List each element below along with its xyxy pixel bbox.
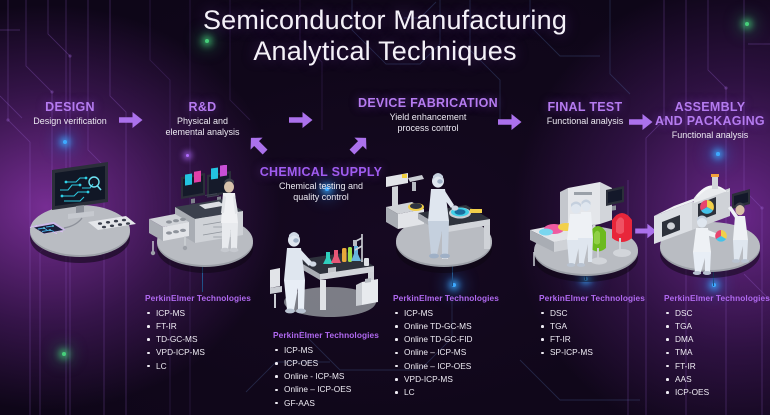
glow-dot-blue-design: [63, 140, 67, 144]
tech-item: DSC: [664, 307, 770, 320]
stage-header-design: DESIGN Design verification: [10, 100, 130, 127]
tech-item: TGA: [539, 320, 645, 333]
scene-finaltest: [524, 180, 648, 284]
infographic-canvas: Semiconductor Manufacturing Analytical T…: [0, 0, 770, 415]
tech-item: ICP-MS: [273, 344, 379, 357]
scene-chemical: [268, 218, 388, 318]
page-title-line1: Semiconductor Manufacturing: [203, 5, 567, 35]
stage-title-design: DESIGN: [10, 100, 130, 114]
tech-item: LC: [393, 386, 499, 399]
tech-item: LC: [145, 360, 251, 373]
scene-assembly: [652, 172, 770, 282]
tech-items-fabrication: ICP-MS Online TD-GC-MS Online TD-GC-FID …: [393, 307, 499, 400]
tech-item: VPD-ICP-MS: [393, 373, 499, 386]
stage-subtitle-fabrication-line2: process control: [348, 123, 508, 134]
tech-items-rnd: ICP-MS FT-IR TD-GC-MS VPD-ICP-MS LC: [145, 307, 251, 373]
stage-subtitle-finaltest: Functional analysis: [525, 116, 645, 127]
tech-list-heading-fabrication: PerkinElmer Technologies: [393, 293, 499, 303]
tech-item: ICP-OES: [664, 386, 770, 399]
tech-list-fabrication: PerkinElmer Technologies ICP-MS Online T…: [393, 293, 499, 400]
tech-item: TMA: [664, 346, 770, 359]
tech-items-assembly: DSC TGA DMA TMA FT-IR AAS ICP-OES: [664, 307, 770, 400]
glow-dot-blue-asm: [712, 283, 716, 287]
stage-subtitle-rnd-line2: elemental analysis: [145, 127, 260, 138]
glow-dot-green-bottom-left: [62, 352, 66, 356]
tech-item: Online - ICP-MS: [273, 370, 379, 383]
tech-list-finaltest: PerkinElmer Technologies DSC TGA FT-IR S…: [539, 293, 645, 360]
stage-header-fabrication: DEVICE FABRICATION Yield enhancement pro…: [348, 96, 508, 133]
tech-item: FT-IR: [145, 320, 251, 333]
scene-rnd: [145, 165, 263, 277]
tech-item: ICP-MS: [145, 307, 251, 320]
stage-subtitle-design: Design verification: [10, 116, 130, 127]
arrow-chemical-to-rnd: [246, 133, 270, 162]
tech-list-rnd: PerkinElmer Technologies ICP-MS FT-IR TD…: [145, 293, 251, 373]
stage-subtitle-chemical-line1: Chemical testing and: [248, 181, 394, 192]
stage-header-finaltest: FINAL TEST Functional analysis: [525, 100, 645, 127]
tech-item: DMA: [664, 333, 770, 346]
stage-subtitle-chemical-line2: quality control: [248, 192, 394, 203]
tech-list-heading-finaltest: PerkinElmer Technologies: [539, 293, 645, 303]
stage-subtitle-assembly: Functional analysis: [650, 130, 770, 141]
glow-dot-blue-fab: [452, 283, 456, 287]
glow-dot-blue-asm2: [716, 152, 720, 156]
tech-item: TGA: [664, 320, 770, 333]
tech-item: FT-IR: [664, 360, 770, 373]
scene-fabrication: [382, 163, 502, 278]
arrow-rnd-to-fabrication: [288, 110, 314, 135]
tech-items-chemical: ICP-MS ICP-OES Online - ICP-MS Online – …: [273, 344, 379, 410]
tech-item: Online – ICP-MS: [393, 346, 499, 359]
stage-subtitle-fabrication-line1: Yield enhancement: [348, 112, 508, 123]
tech-items-finaltest: DSC TGA FT-IR SP-ICP-MS: [539, 307, 645, 360]
tech-list-chemical: PerkinElmer Technologies ICP-MS ICP-OES …: [273, 330, 379, 410]
tech-item: DSC: [539, 307, 645, 320]
tech-item: GF-AAS: [273, 397, 379, 410]
glow-dot-violet-rnd: [186, 154, 189, 157]
stage-header-assembly: ASSEMBLY AND PACKAGING Functional analys…: [650, 100, 770, 141]
stage-subtitle-rnd-line1: Physical and: [145, 116, 260, 127]
tech-item: Online TD-GC-MS: [393, 320, 499, 333]
stage-title-assembly-line1: ASSEMBLY: [650, 100, 770, 114]
tech-list-assembly: PerkinElmer Technologies DSC TGA DMA TMA…: [664, 293, 770, 400]
stage-title-chemical: CHEMICAL SUPPLY: [248, 165, 394, 179]
tech-item: Online TD-GC-FID: [393, 333, 499, 346]
stage-title-fabrication: DEVICE FABRICATION: [348, 96, 508, 110]
tech-item: ICP-OES: [273, 357, 379, 370]
tech-item: SP-ICP-MS: [539, 346, 645, 359]
arrow-chemical-to-fabrication: [347, 133, 371, 162]
tech-list-heading-assembly: PerkinElmer Technologies: [664, 293, 770, 303]
page-title-line2: Analytical Techniques: [0, 36, 770, 67]
stage-title-finaltest: FINAL TEST: [525, 100, 645, 114]
tech-item: ICP-MS: [393, 307, 499, 320]
stage-title-assembly-line2: AND PACKAGING: [650, 114, 770, 128]
tech-item: Online – ICP-OES: [273, 383, 379, 396]
stage-header-rnd: R&D Physical and elemental analysis: [145, 100, 260, 137]
stage-header-chemical: CHEMICAL SUPPLY Chemical testing and qua…: [248, 165, 394, 202]
tech-item: AAS: [664, 373, 770, 386]
page-title: Semiconductor Manufacturing Analytical T…: [0, 5, 770, 67]
tech-item: FT-IR: [539, 333, 645, 346]
tech-item: TD-GC-MS: [145, 333, 251, 346]
stage-title-rnd: R&D: [145, 100, 260, 114]
tech-list-heading-rnd: PerkinElmer Technologies: [145, 293, 251, 303]
scene-design: [20, 160, 140, 270]
tech-item: VPD-ICP-MS: [145, 346, 251, 359]
tech-list-heading-chemical: PerkinElmer Technologies: [273, 330, 379, 340]
tech-item: Online – ICP-OES: [393, 360, 499, 373]
